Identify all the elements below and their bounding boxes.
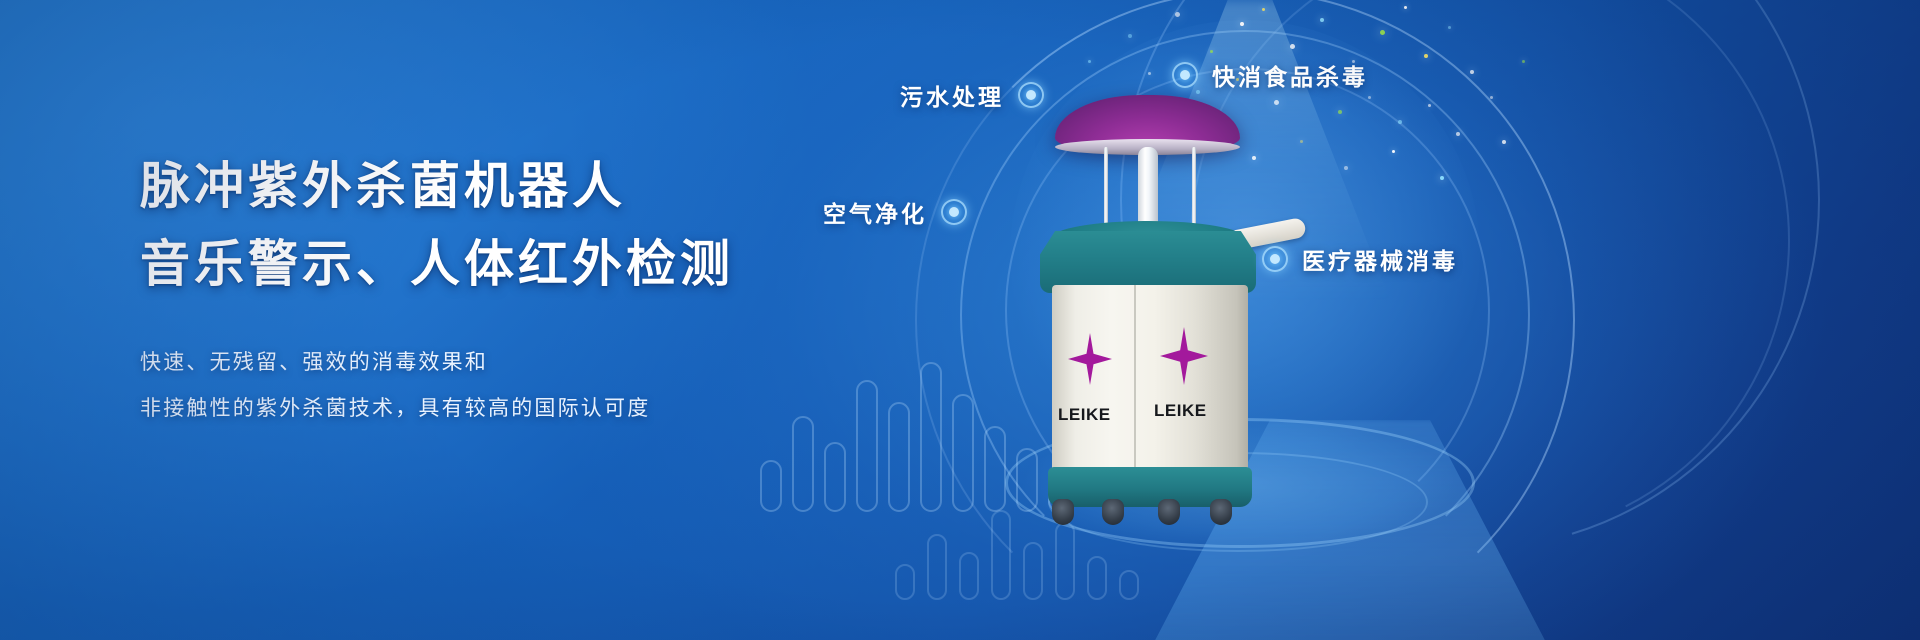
robot-body-column xyxy=(1052,285,1248,475)
callout-label: 快消食品杀毒 xyxy=(1212,58,1368,92)
ring-dot-icon xyxy=(1018,82,1044,108)
sound-bar xyxy=(824,442,846,512)
particle-dot xyxy=(1470,70,1474,74)
particle-dot xyxy=(1210,50,1213,53)
particle-dot xyxy=(1344,166,1348,170)
brand-label-right: LEIKE xyxy=(1154,401,1207,421)
brand-label-left: LEIKE xyxy=(1058,405,1111,425)
sound-bar xyxy=(959,552,979,600)
promo-banner: 脉冲紫外杀菌机器人 音乐警示、人体红外检测 快速、无残留、强效的消毒效果和 非接… xyxy=(0,0,1920,640)
caster-wheel xyxy=(1158,499,1180,525)
particle-dot xyxy=(1290,44,1295,49)
sound-bar xyxy=(1119,570,1139,600)
callout-label: 空气净化 xyxy=(823,195,927,229)
caster-wheel xyxy=(1102,499,1124,525)
particle-dot xyxy=(1440,176,1444,180)
uv-disinfection-robot: LEIKE LEIKE xyxy=(1030,95,1290,515)
uv-lamp-tube xyxy=(1138,147,1158,225)
subtitle-line-2: 非接触性的紫外杀菌技术，具有较高的国际认可度 xyxy=(140,386,860,432)
robot-body-edge xyxy=(1134,285,1136,475)
sound-bar xyxy=(1087,556,1107,600)
particle-dot xyxy=(1175,12,1180,17)
headline-block: 脉冲紫外杀菌机器人 音乐警示、人体红外检测 快速、无残留、强效的消毒效果和 非接… xyxy=(140,150,860,432)
particle-dot xyxy=(1456,132,1460,136)
particle-dot xyxy=(1398,120,1402,124)
particle-dot xyxy=(1380,30,1385,35)
headline-primary: 脉冲紫外杀菌机器人 xyxy=(140,150,860,222)
sound-bar xyxy=(760,460,782,512)
particle-dot xyxy=(1300,140,1303,143)
caster-wheel xyxy=(1210,499,1232,525)
particle-dot xyxy=(1522,60,1525,63)
particle-dot xyxy=(1490,96,1493,99)
particle-dot xyxy=(1088,60,1091,63)
particle-dot xyxy=(1428,104,1431,107)
callout-fmcg-food-sterilization: 快消食品杀毒 xyxy=(1172,58,1368,92)
callout-medical-device-disinfection: 医疗器械消毒 xyxy=(1262,242,1458,276)
particle-dot xyxy=(1338,110,1342,114)
callout-air-purification: 空气净化 xyxy=(823,195,967,229)
sound-bar xyxy=(895,564,915,600)
subtitle-block: 快速、无残留、强效的消毒效果和 非接触性的紫外杀菌技术，具有较高的国际认可度 xyxy=(140,340,860,432)
particle-dot xyxy=(1424,54,1428,58)
ring-dot-icon xyxy=(1262,246,1288,272)
particle-dot xyxy=(1368,96,1371,99)
robot-upper-housing xyxy=(1040,231,1256,293)
particle-dot xyxy=(1262,8,1265,11)
particle-dot xyxy=(1148,72,1151,75)
callout-wastewater-treatment: 污水处理 xyxy=(900,78,1044,112)
sound-bar xyxy=(927,534,947,600)
particle-dot xyxy=(1240,22,1244,26)
sound-bar xyxy=(1023,542,1043,600)
lamp-strut-right xyxy=(1192,147,1196,225)
caster-wheel xyxy=(1052,499,1074,525)
callout-label: 污水处理 xyxy=(900,78,1004,112)
particle-dot xyxy=(1320,18,1324,22)
lamp-strut-left xyxy=(1104,147,1108,225)
particle-dot xyxy=(1128,34,1132,38)
particle-dot xyxy=(1392,150,1395,153)
headline-secondary: 音乐警示、人体红外检测 xyxy=(140,228,860,300)
particle-dot xyxy=(1502,140,1506,144)
subtitle-line-1: 快速、无残留、强效的消毒效果和 xyxy=(140,340,860,386)
callout-label: 医疗器械消毒 xyxy=(1302,242,1458,276)
ring-dot-icon xyxy=(941,199,967,225)
particle-dot xyxy=(1448,26,1451,29)
ring-dot-icon xyxy=(1172,62,1198,88)
particle-dot xyxy=(1404,6,1407,9)
